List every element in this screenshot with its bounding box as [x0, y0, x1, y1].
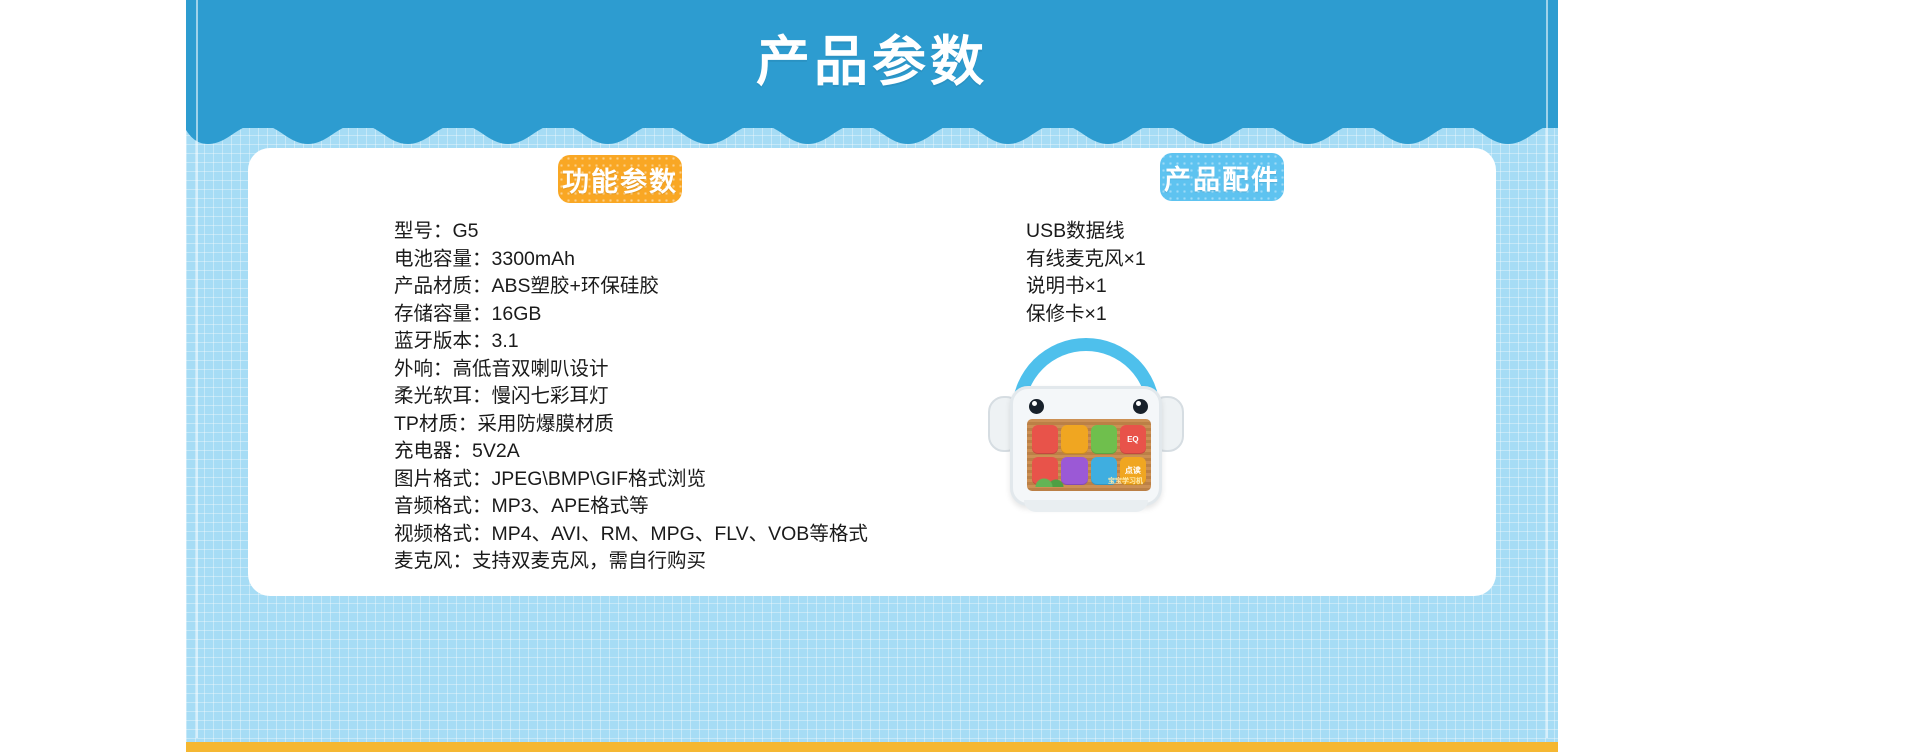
bottom-accent-strip — [186, 742, 1558, 752]
grass-decoration-icon — [1035, 471, 1065, 487]
product-body: EQ 点读 宝宝学习机 — [1010, 386, 1162, 506]
spec-row: 视频格式：MP4、AVI、RM、MPG、FLV、VOB等格式 — [394, 521, 868, 549]
page-root: 产品参数 功能参数 产品配件 型号：G5 电池容量：3300mAh 产品材质：A… — [0, 0, 1920, 752]
spec-row: 图片格式：JPEG\BMP\GIF格式浏览 — [394, 466, 868, 494]
spec-row: 充电器：5V2A — [394, 438, 868, 466]
product-spec-panel: 产品参数 功能参数 产品配件 型号：G5 电池容量：3300mAh 产品材质：A… — [186, 0, 1558, 752]
header-band: 产品参数 — [186, 0, 1558, 128]
product-eye-right — [1133, 399, 1148, 414]
spec-row: TP材质：采用防爆膜材质 — [394, 411, 868, 439]
list-item: 说明书×1 — [1026, 273, 1146, 301]
content-card: 功能参数 产品配件 型号：G5 电池容量：3300mAh 产品材质：ABS塑胶+… — [248, 148, 1496, 596]
screen-app-icon — [1061, 425, 1087, 454]
bottom-accent-strip-inner — [196, 742, 1548, 752]
spec-row: 柔光软耳：慢闪七彩耳灯 — [394, 383, 868, 411]
spec-row: 麦克风：支持双麦克风，需自行购买 — [394, 548, 868, 576]
section-badge-accessories: 产品配件 — [1160, 153, 1284, 201]
list-item: 保修卡×1 — [1026, 301, 1146, 329]
section-badge-functional: 功能参数 — [558, 155, 682, 203]
product-base — [1024, 500, 1148, 512]
spec-row: 电池容量：3300mAh — [394, 246, 868, 274]
product-screen: EQ 点读 宝宝学习机 — [1027, 419, 1151, 491]
screen-app-icon — [1091, 425, 1117, 454]
spec-row: 型号：G5 — [394, 218, 868, 246]
spec-row: 音频格式：MP3、APE格式等 — [394, 493, 868, 521]
screen-app-icon — [1032, 425, 1058, 454]
spec-row: 蓝牙版本：3.1 — [394, 328, 868, 356]
screen-app-icon — [1061, 457, 1087, 486]
product-brand-label: 宝宝学习机 — [1108, 476, 1143, 486]
accessories-list: USB数据线 有线麦克风×1 说明书×1 保修卡×1 — [1026, 218, 1146, 328]
product-eye-left — [1029, 399, 1044, 414]
wave-divider-icon — [186, 110, 1558, 144]
spec-row: 外响：高低音双喇叭设计 — [394, 356, 868, 384]
spec-row: 产品材质：ABS塑胶+环保硅胶 — [394, 273, 868, 301]
screen-app-icon: EQ — [1120, 425, 1146, 454]
product-image: EQ 点读 宝宝学习机 — [976, 338, 1196, 538]
page-title: 产品参数 — [186, 28, 1558, 96]
list-item: 有线麦克风×1 — [1026, 246, 1146, 274]
list-item: USB数据线 — [1026, 218, 1146, 246]
functional-spec-list: 型号：G5 电池容量：3300mAh 产品材质：ABS塑胶+环保硅胶 存储容量：… — [394, 218, 868, 576]
spec-row: 存储容量：16GB — [394, 301, 868, 329]
